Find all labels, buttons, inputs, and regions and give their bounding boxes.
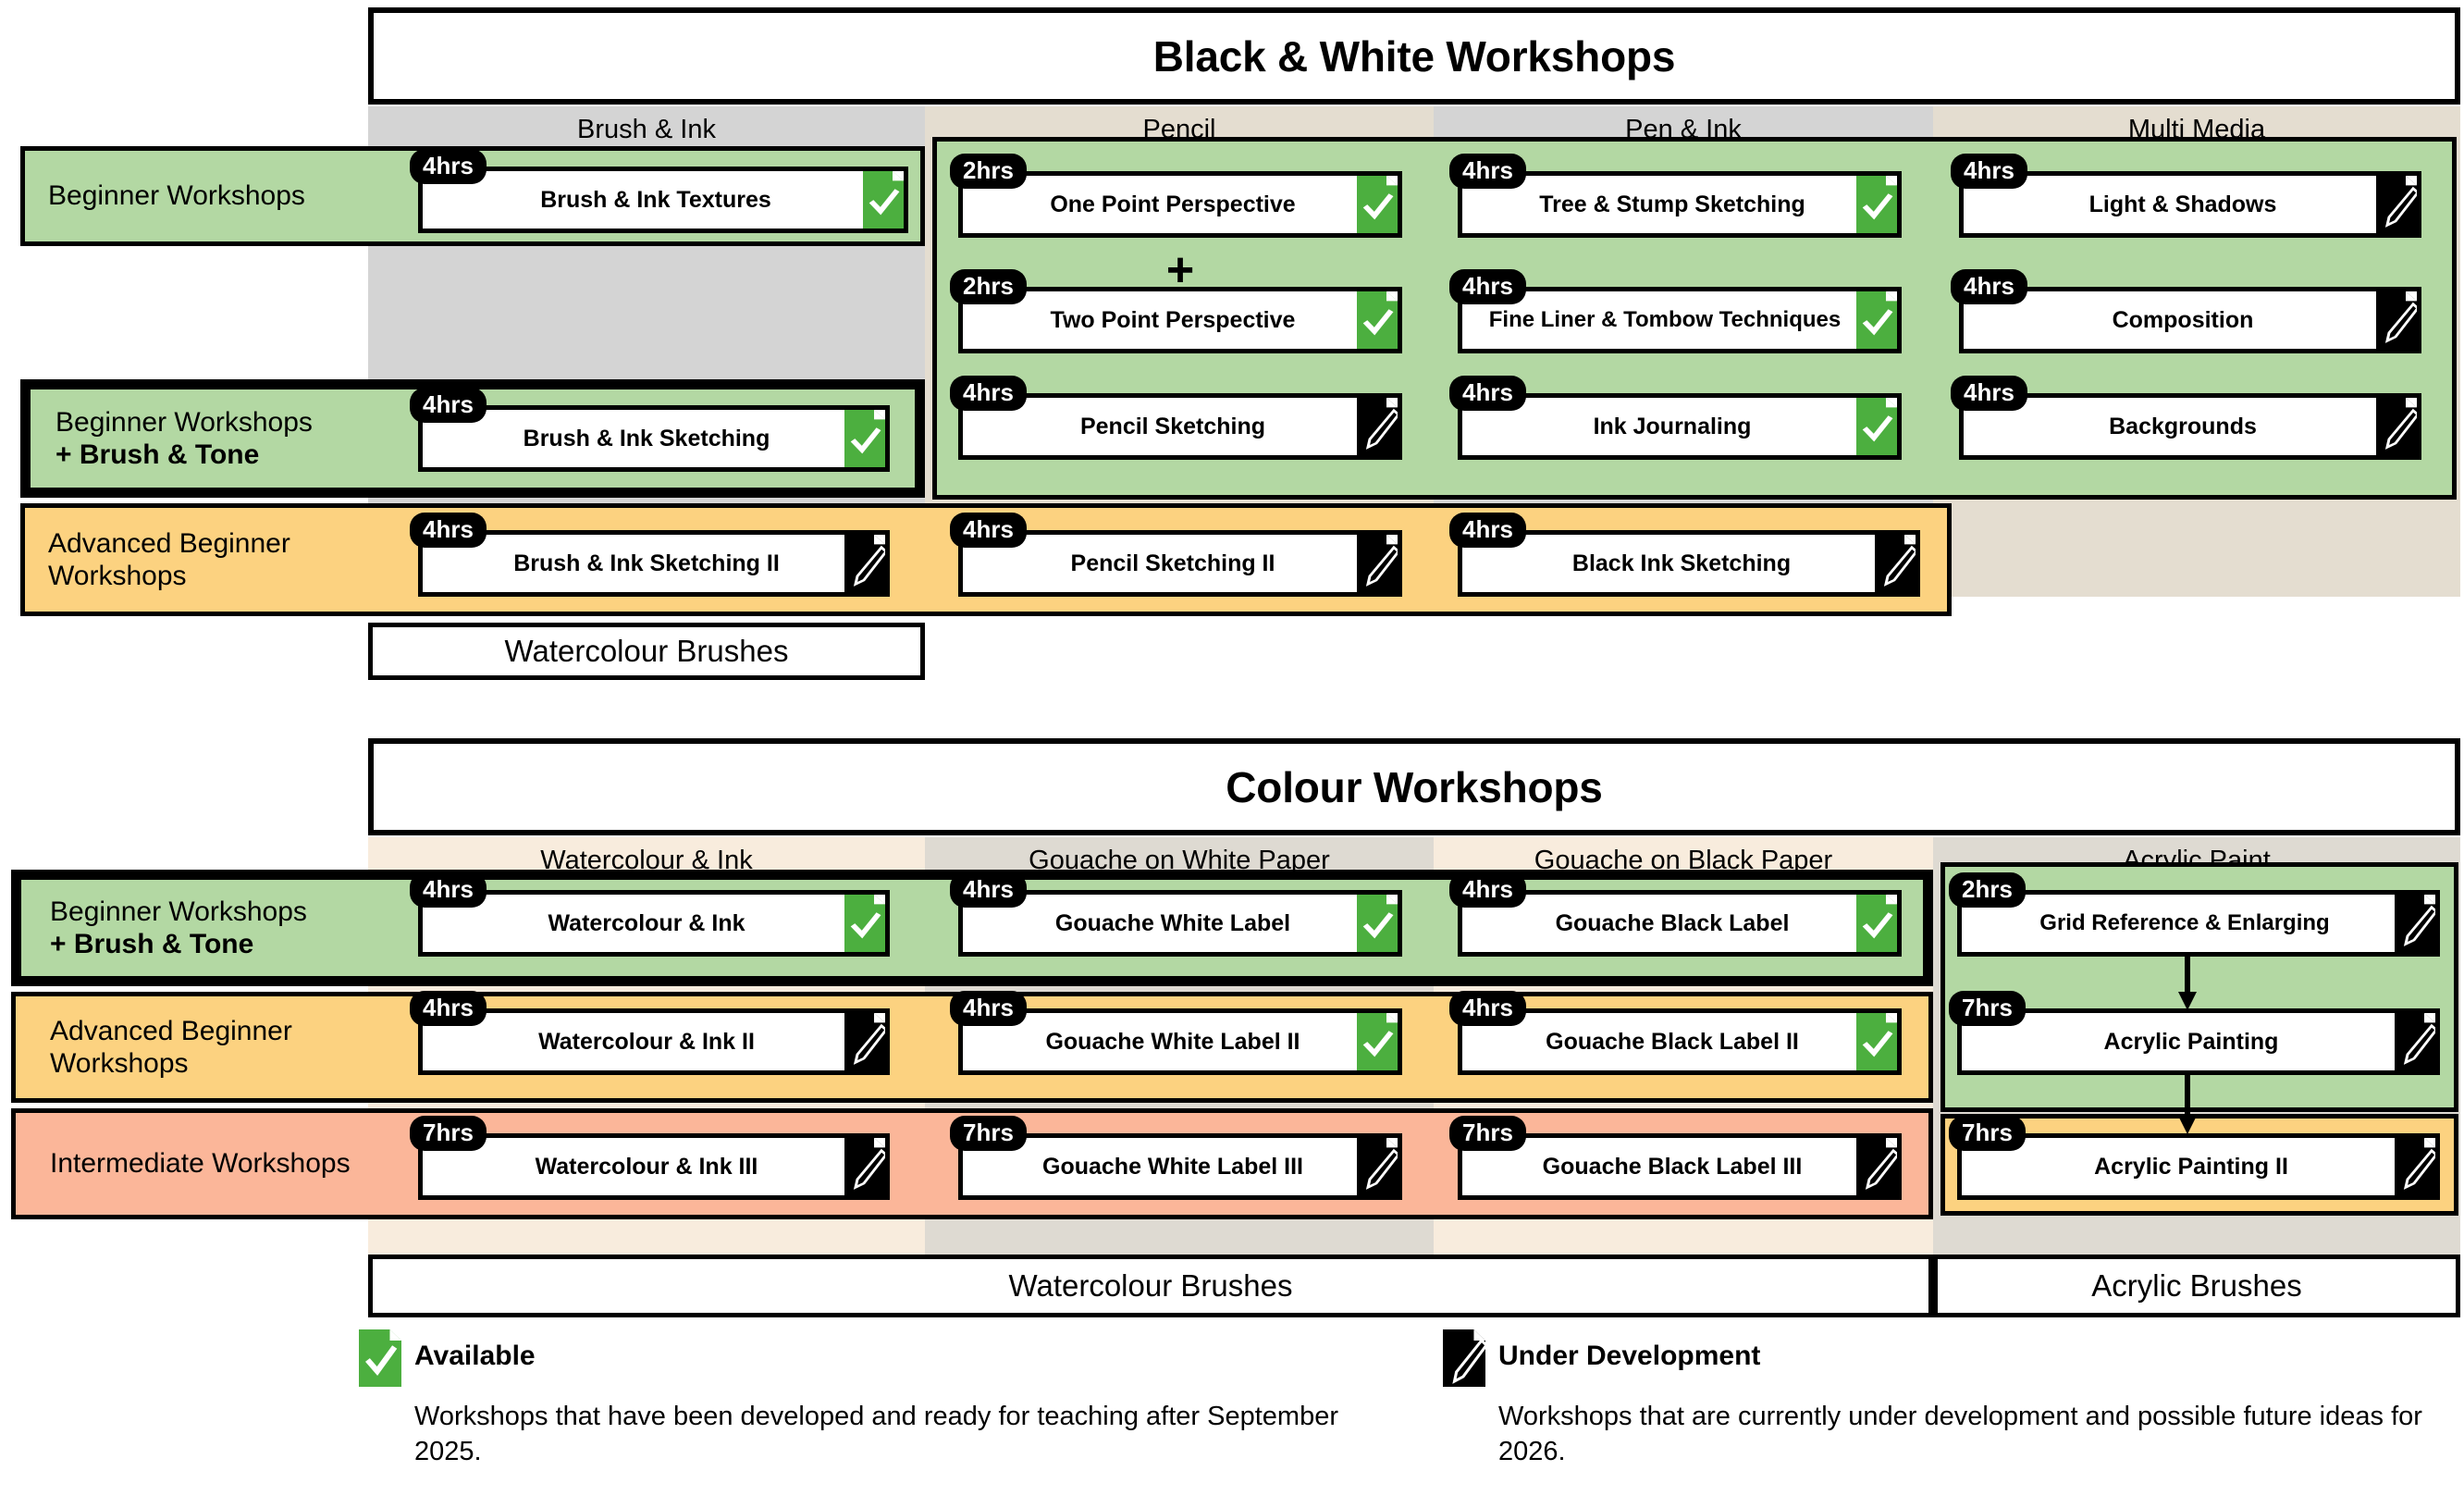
workshop-name: Watercolour & Ink [423, 910, 844, 937]
workshop-card[interactable]: 7hrs Gouache White Label III [958, 1133, 1402, 1200]
row-label-line2: Workshops [48, 560, 379, 592]
under-development-icon [1443, 1329, 1485, 1387]
workshop-name: Gouache White Label III [963, 1154, 1357, 1180]
duration-badge: 7hrs [1449, 1116, 1526, 1151]
workshop-name: Composition [1964, 307, 2376, 334]
section-title-black-white: Black & White Workshops [368, 7, 2460, 105]
workshop-name: Gouache Black Label II [1462, 1029, 1856, 1056]
under-development-icon [844, 535, 885, 592]
workshop-card[interactable]: 4hrs Pencil Sketching II [958, 530, 1402, 597]
workshop-card[interactable]: 2hrs One Point Perspective [958, 171, 1402, 238]
duration-badge: 7hrs [410, 1116, 487, 1151]
legend-item-under-development: Under Development Workshops that are cur… [1443, 1329, 2460, 1469]
footer-watercolour-brushes-bw: Watercolour Brushes [368, 623, 925, 680]
duration-badge: 4hrs [410, 513, 487, 548]
duration-badge: 4hrs [410, 872, 487, 908]
workshop-name: Acrylic Painting II [1962, 1154, 2395, 1180]
under-development-icon [2395, 1138, 2435, 1195]
duration-badge: 4hrs [410, 991, 487, 1026]
under-development-icon [844, 1138, 885, 1195]
under-development-icon [1856, 1138, 1897, 1195]
duration-badge: 4hrs [1449, 513, 1526, 548]
workshop-name: Black Ink Sketching [1462, 550, 1875, 577]
duration-badge: 4hrs [1449, 991, 1526, 1026]
duration-badge: 2hrs [1949, 872, 2026, 908]
available-icon [1856, 895, 1897, 952]
duration-badge: 4hrs [1449, 376, 1526, 411]
under-development-icon [2376, 398, 2417, 455]
column-header-label: Brush & Ink [577, 115, 716, 145]
legend-head: Under Development [1443, 1329, 2460, 1387]
workshop-card[interactable]: 7hrs Acrylic Painting [1957, 1008, 2440, 1075]
under-development-icon [2395, 1013, 2435, 1070]
duration-badge: 4hrs [410, 149, 487, 184]
row-label-colour-intermediate: Intermediate Workshops [30, 1108, 381, 1219]
workshop-card[interactable]: 4hrs Ink Journaling [1458, 393, 1902, 460]
available-icon [1856, 398, 1897, 455]
legend-description: Workshops that have been developed and r… [414, 1400, 1386, 1469]
workshop-card[interactable]: 2hrs Grid Reference & Enlarging [1957, 890, 2440, 957]
duration-badge: 4hrs [1951, 269, 2027, 304]
legend-title: Under Development [1498, 1329, 1760, 1372]
workshop-name: Gouache Black Label III [1462, 1154, 1856, 1180]
row-label-colour-beginner-brush-tone: Beginner Workshops + Brush & Tone [30, 870, 381, 986]
workshop-name: Watercolour & Ink III [423, 1154, 844, 1180]
arrow-down-icon [2175, 955, 2199, 1012]
row-label-bw-beginner-brush-tone: Beginner Workshops + Brush & Tone [35, 379, 387, 498]
workshop-name: Gouache White Label [963, 910, 1357, 937]
row-label-line2: + Brush & Tone [55, 439, 387, 471]
workshop-card[interactable]: 4hrs Watercolour & Ink II [418, 1008, 890, 1075]
row-label-line1: Beginner Workshops [55, 406, 387, 439]
row-label-colour-advanced-beginner: Advanced Beginner Workshops [30, 992, 381, 1103]
workshop-name: Watercolour & Ink II [423, 1029, 844, 1056]
duration-badge: 2hrs [950, 269, 1027, 304]
row-label-line1: Intermediate Workshops [50, 1147, 381, 1180]
footer-label: Watercolour Brushes [1009, 1268, 1293, 1304]
available-icon [1856, 1013, 1897, 1070]
workshop-card[interactable]: 4hrs Brush & Ink Sketching II [418, 530, 890, 597]
workshop-card[interactable]: 4hrs Light & Shadows [1959, 171, 2421, 238]
workshop-name: Fine Liner & Tombow Techniques [1462, 307, 1856, 333]
available-icon [1856, 291, 1897, 349]
arrow-down-icon [2175, 1075, 2199, 1136]
workshop-name: Backgrounds [1964, 414, 2376, 440]
workshop-card[interactable]: 7hrs Watercolour & Ink III [418, 1133, 890, 1200]
under-development-icon [2395, 895, 2435, 952]
workshop-card[interactable]: 4hrs Gouache White Label [958, 890, 1402, 957]
available-icon [844, 895, 885, 952]
duration-badge: 4hrs [1449, 872, 1526, 908]
workshop-card[interactable]: 4hrs Gouache Black Label II [1458, 1008, 1902, 1075]
workshop-card[interactable]: 4hrs Fine Liner & Tombow Techniques [1458, 287, 1902, 353]
under-development-icon [1357, 535, 1398, 592]
legend-description: Workshops that are currently under devel… [1498, 1400, 2464, 1469]
row-label-bw-beginner: Beginner Workshops [28, 146, 379, 246]
row-label-bw-advanced-beginner: Advanced Beginner Workshops [28, 503, 379, 616]
workshop-name: Ink Journaling [1462, 414, 1856, 440]
workshop-card[interactable]: 4hrs Watercolour & Ink [418, 890, 890, 957]
workshop-card[interactable]: 4hrs Gouache Black Label [1458, 890, 1902, 957]
workshop-card[interactable]: 4hrs Composition [1959, 287, 2421, 353]
workshop-name: Grid Reference & Enlarging [1962, 910, 2395, 936]
legend-head: Available [359, 1329, 1376, 1387]
section-title-text: Colour Workshops [1226, 762, 1602, 812]
workshop-name: Light & Shadows [1964, 192, 2376, 218]
duration-badge: 4hrs [1449, 154, 1526, 189]
row-label-line2: + Brush & Tone [50, 928, 381, 960]
duration-badge: 7hrs [1949, 991, 2026, 1026]
available-icon [1357, 1013, 1398, 1070]
available-icon [1357, 176, 1398, 233]
legend-item-available: Available Workshops that have been devel… [359, 1329, 1376, 1469]
workshop-name: Acrylic Painting [1962, 1029, 2395, 1056]
row-label-line1: Beginner Workshops [50, 896, 381, 928]
duration-badge: 4hrs [950, 376, 1027, 411]
workshop-name: Two Point Perspective [963, 307, 1357, 334]
row-label-line1: Advanced Beginner [48, 527, 379, 560]
duration-badge: 4hrs [1951, 376, 2027, 411]
duration-badge: 2hrs [950, 154, 1027, 189]
duration-badge: 4hrs [950, 991, 1027, 1026]
workshop-card[interactable]: 4hrs Pencil Sketching [958, 393, 1402, 460]
duration-badge: 4hrs [950, 872, 1027, 908]
section-title-colour: Colour Workshops [368, 738, 2460, 835]
available-icon [359, 1329, 401, 1387]
row-label-line1: Beginner Workshops [48, 179, 379, 212]
legend-title: Available [414, 1329, 536, 1372]
workshop-name: Brush & Ink Sketching II [423, 550, 844, 577]
row-label-line2: Workshops [50, 1047, 381, 1080]
workshop-name: Tree & Stump Sketching [1462, 192, 1856, 218]
workshop-card[interactable]: 7hrs Gouache Black Label III [1458, 1133, 1902, 1200]
under-development-icon [2376, 176, 2417, 233]
duration-badge: 4hrs [950, 513, 1027, 548]
available-icon [863, 171, 904, 229]
available-icon [1856, 176, 1897, 233]
footer-acrylic-brushes: Acrylic Brushes [1933, 1255, 2460, 1317]
workshop-card[interactable]: 4hrs Black Ink Sketching [1458, 530, 1920, 597]
workshop-name: Brush & Ink Textures [423, 187, 863, 214]
duration-badge: 4hrs [410, 388, 487, 423]
under-development-icon [1357, 398, 1398, 455]
plus-icon: + [1143, 246, 1217, 294]
duration-badge: 4hrs [1951, 154, 2027, 189]
footer-label: Watercolour Brushes [505, 634, 789, 669]
workshop-name: Pencil Sketching [963, 414, 1357, 440]
duration-badge: 7hrs [950, 1116, 1027, 1151]
row-label-line1: Advanced Beginner [50, 1015, 381, 1047]
workshop-card[interactable]: 4hrs Gouache White Label II [958, 1008, 1402, 1075]
footer-watercolour-brushes-colour: Watercolour Brushes [368, 1255, 1933, 1317]
duration-badge: 4hrs [1449, 269, 1526, 304]
workshop-card[interactable]: 4hrs Tree & Stump Sketching [1458, 171, 1902, 238]
workshop-card[interactable]: 4hrs Brush & Ink Textures [418, 167, 908, 233]
workshop-card[interactable]: 4hrs Backgrounds [1959, 393, 2421, 460]
workshop-card[interactable]: 4hrs Brush & Ink Sketching [418, 405, 890, 472]
available-icon [844, 410, 885, 467]
under-development-icon [1357, 1138, 1398, 1195]
workshop-card[interactable]: 7hrs Acrylic Painting II [1957, 1133, 2440, 1200]
workshop-name: Gouache Black Label [1462, 910, 1856, 937]
available-icon [1357, 291, 1398, 349]
workshop-name: Brush & Ink Sketching [423, 426, 844, 452]
section-title-text: Black & White Workshops [1153, 31, 1676, 81]
workshop-name: Pencil Sketching II [963, 550, 1357, 577]
workshop-name: One Point Perspective [963, 192, 1357, 218]
workshop-name: Gouache White Label II [963, 1029, 1357, 1056]
duration-badge: 7hrs [1949, 1116, 2026, 1151]
under-development-icon [1875, 535, 1916, 592]
under-development-icon [2376, 291, 2417, 349]
available-icon [1357, 895, 1398, 952]
footer-label: Acrylic Brushes [2091, 1268, 2301, 1304]
under-development-icon [844, 1013, 885, 1070]
